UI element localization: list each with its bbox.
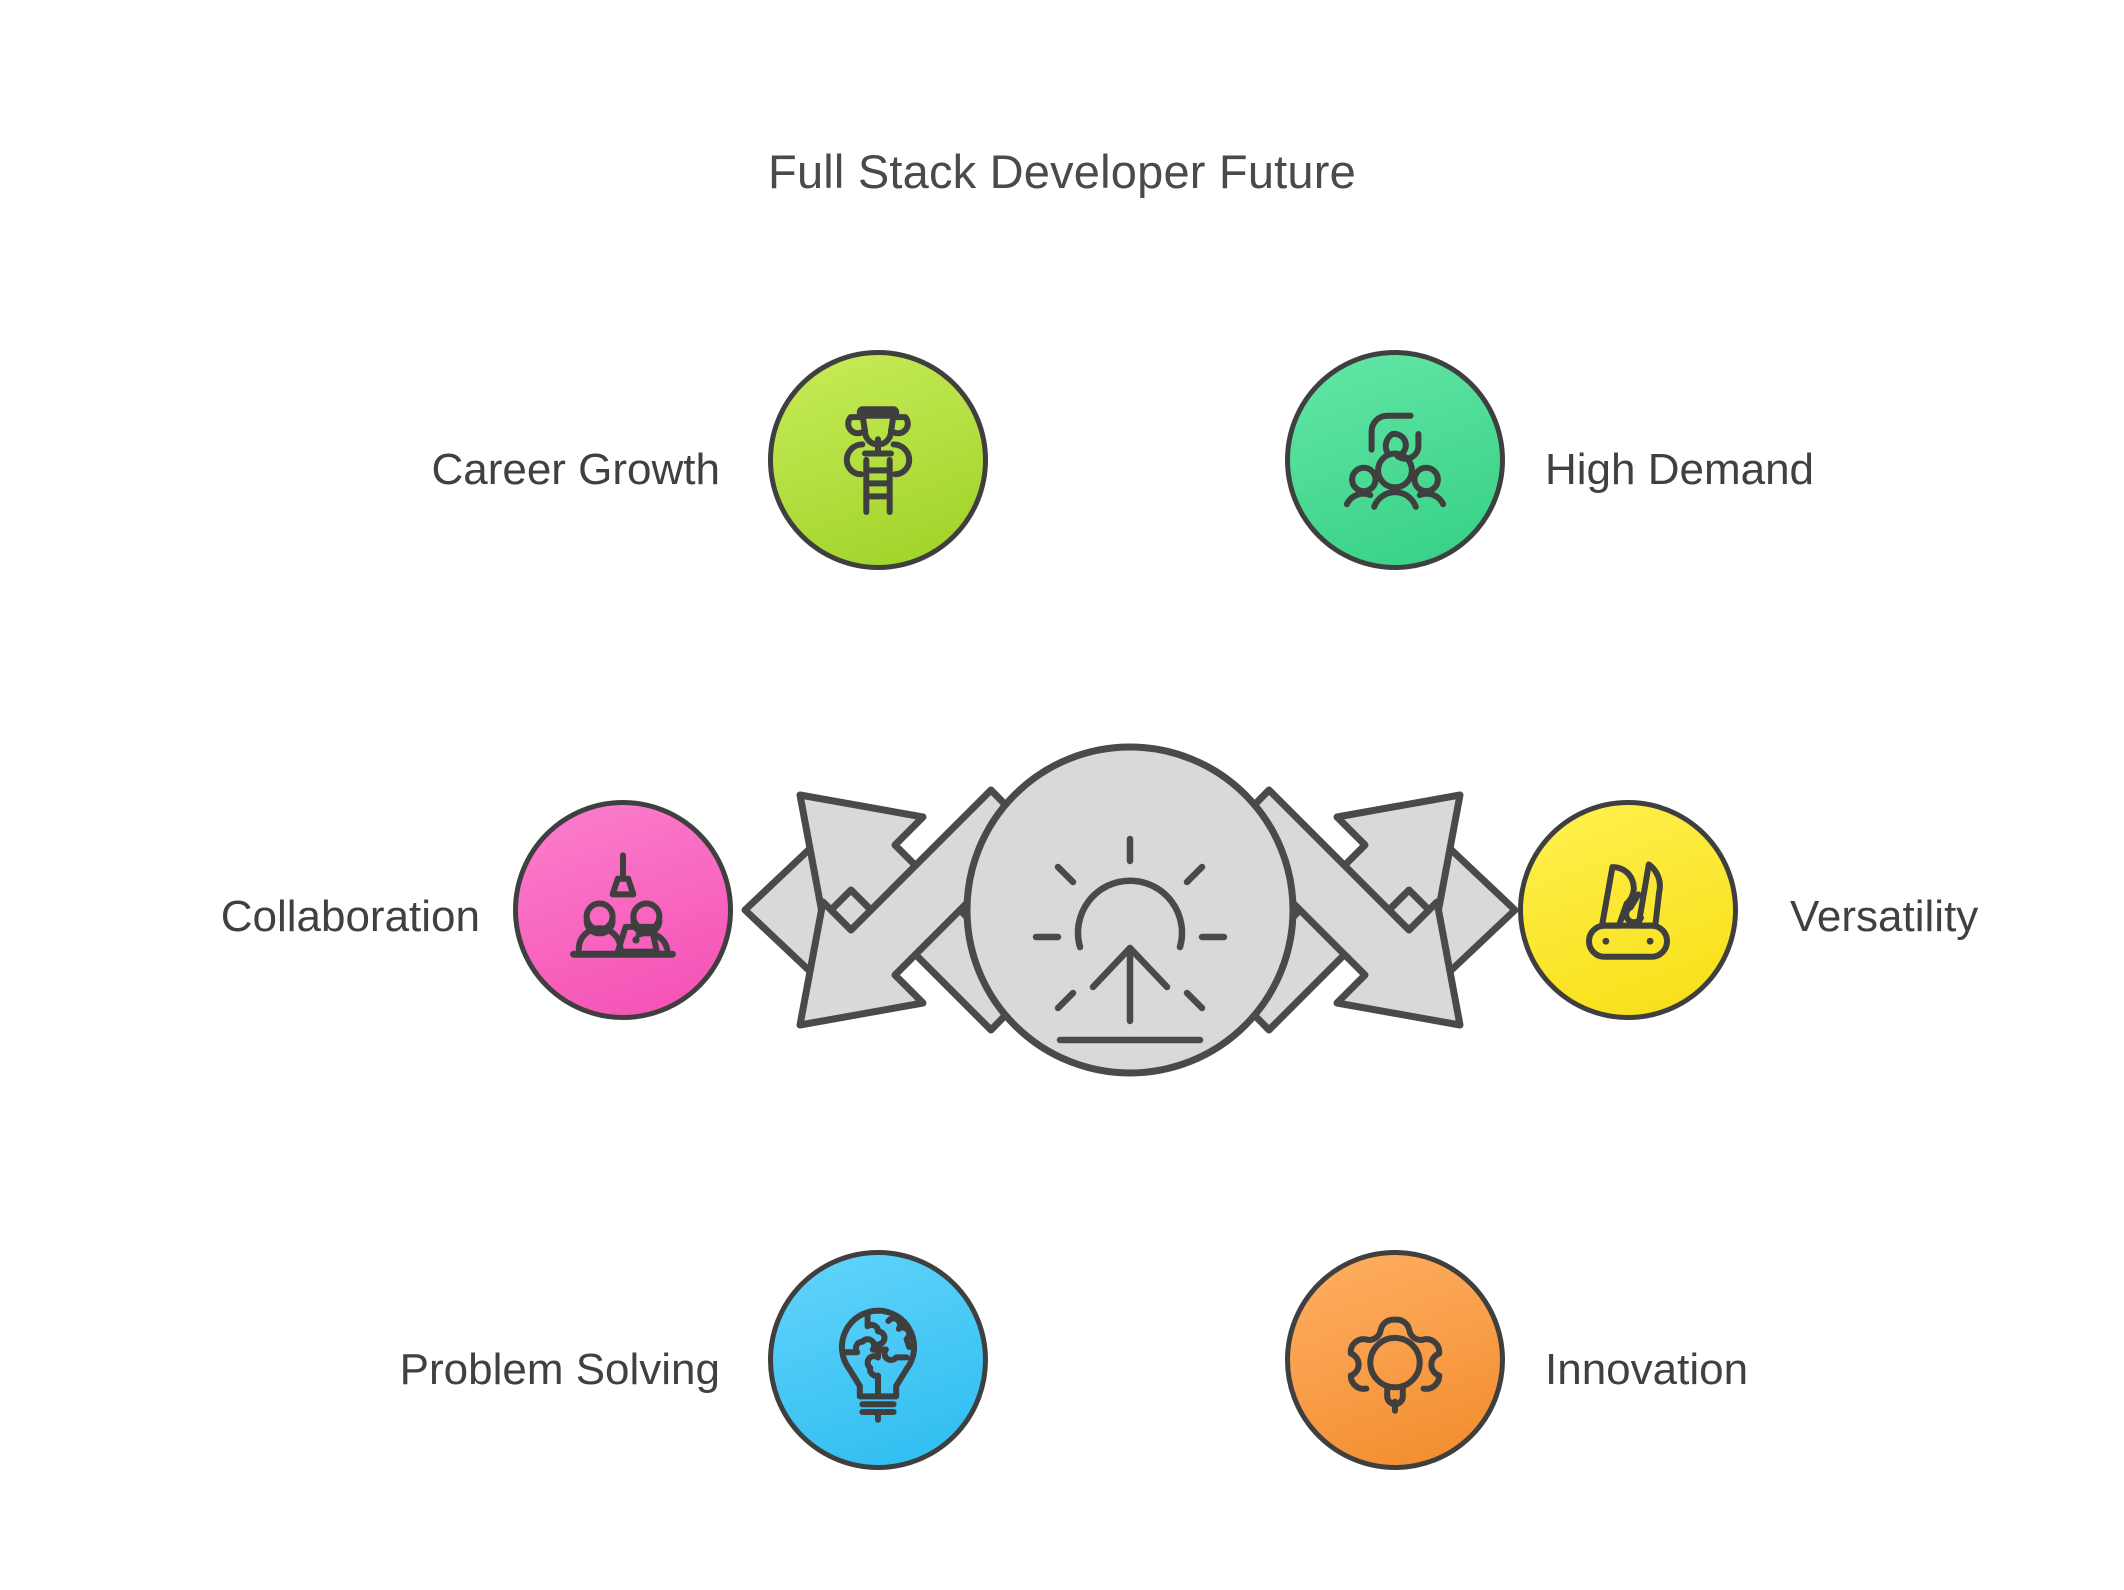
page-title: Full Stack Developer Future — [0, 148, 2124, 195]
two-people-desk-laptop-icon — [558, 845, 688, 975]
node-icon-collaboration[interactable] — [513, 800, 733, 1020]
node-label-high-demand: High Demand — [1545, 448, 2065, 492]
node-label-versatility: Versatility — [1790, 895, 2120, 939]
node-icon-problem-solving[interactable] — [768, 1250, 988, 1470]
gear-lightbulb-icon — [1330, 1295, 1460, 1425]
node-label-career-growth: Career Growth — [200, 448, 720, 492]
swiss-army-knife-icon — [1563, 845, 1693, 975]
node-label-problem-solving: Problem Solving — [180, 1348, 720, 1392]
node-icon-high-demand[interactable] — [1285, 350, 1505, 570]
node-label-collaboration: Collaboration — [60, 895, 480, 939]
node-icon-versatility[interactable] — [1518, 800, 1738, 1020]
diagram-canvas: Full Stack Developer Future — [0, 0, 2124, 1590]
node-icon-innovation[interactable] — [1285, 1250, 1505, 1470]
people-group-arrow-icon — [1330, 395, 1460, 525]
node-icon-career-growth[interactable] — [768, 350, 988, 570]
central-hub — [725, 505, 1535, 1315]
trophy-ladder-icon — [813, 395, 943, 525]
lightbulb-puzzle-globe-icon — [813, 1295, 943, 1425]
node-label-innovation: Innovation — [1545, 1348, 1965, 1392]
